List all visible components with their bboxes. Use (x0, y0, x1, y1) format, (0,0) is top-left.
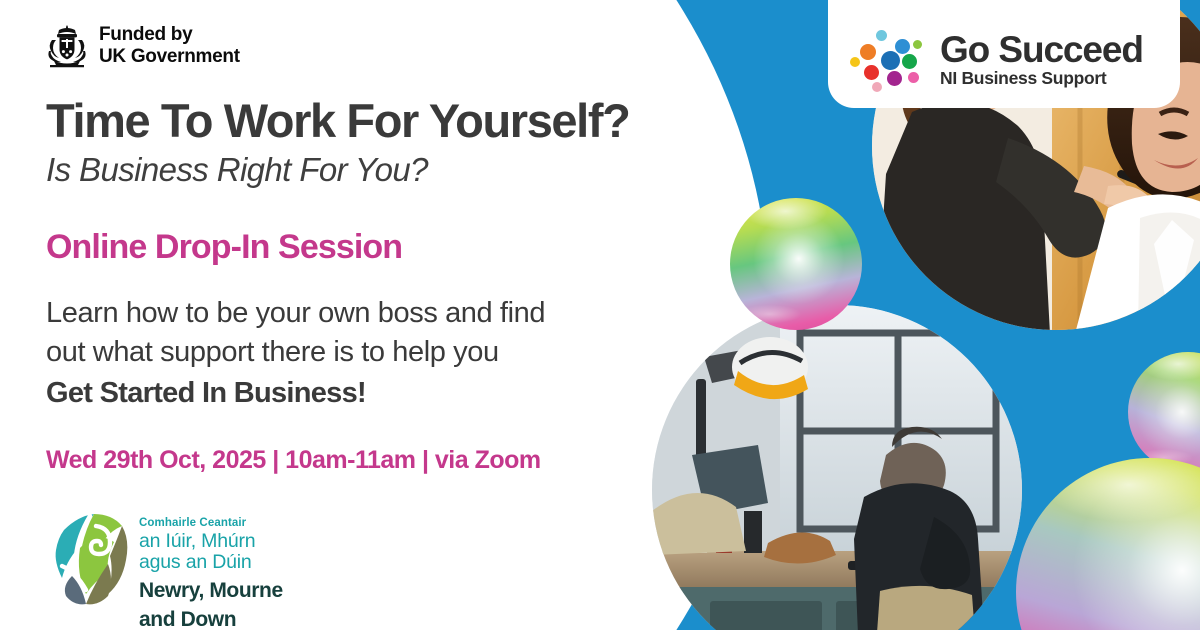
council-english-line-1: Newry, Mourne (139, 580, 283, 603)
body-call-to-action: Get Started In Business! (46, 374, 726, 413)
body-line-1: Learn how to be your own boss and find (46, 297, 545, 329)
promo-poster: Go Succeed NI Business Support (0, 0, 1200, 630)
funded-by-uk-government-logo: Funded by UK Government (46, 24, 240, 68)
brand-name: Go Succeed (940, 29, 1143, 70)
brand-dot-3 (860, 44, 876, 60)
page-title: Time To Work For Yourself? (46, 96, 726, 145)
council-irish-line-1: an Iúir, Mhúrn (139, 531, 283, 552)
brand-dot-5 (902, 54, 917, 69)
council-english-line-2: and Down (139, 609, 283, 630)
brand-dot-2 (913, 40, 922, 49)
brand-tagline: NI Business Support (940, 68, 1106, 88)
brand-dot-7 (864, 65, 879, 80)
page-subtitle: Is Business Right For You? (46, 151, 726, 189)
newry-mourne-down-council-logo: Comhairle Ceantair an Iúir, Mhúrn agus a… (50, 508, 283, 630)
brand-dot-0 (876, 30, 887, 41)
brand-dot-9 (908, 72, 919, 83)
body-line-2: out what support there is to help you (46, 336, 499, 368)
brand-dot-6 (850, 57, 860, 67)
colored-dots-cluster-icon (850, 30, 928, 92)
newry-mourne-down-council-mark-icon (50, 508, 128, 612)
brand-dot-4 (881, 51, 900, 70)
go-succeed-logo-card: Go Succeed NI Business Support (828, 0, 1180, 108)
funder-line-1: Funded by (99, 24, 240, 46)
council-irish-line-2: agus an Dúin (139, 552, 283, 573)
brand-dot-1 (895, 39, 910, 54)
brand-dot-8 (887, 71, 902, 86)
uk-royal-coat-of-arms-icon (46, 24, 88, 68)
brand-dot-10 (872, 82, 882, 92)
iridescent-sphere-small (730, 198, 862, 330)
funder-line-2: UK Government (99, 46, 240, 68)
session-type-label: Online Drop-In Session (46, 230, 726, 264)
copy-block: Time To Work For Yourself? Is Business R… (46, 96, 726, 473)
event-datetime: Wed 29th Oct, 2025 | 10am-11am | via Zoo… (46, 448, 726, 473)
body-copy: Learn how to be your own boss and find o… (46, 294, 726, 413)
council-irish-small: Comhairle Ceantair (139, 517, 246, 529)
